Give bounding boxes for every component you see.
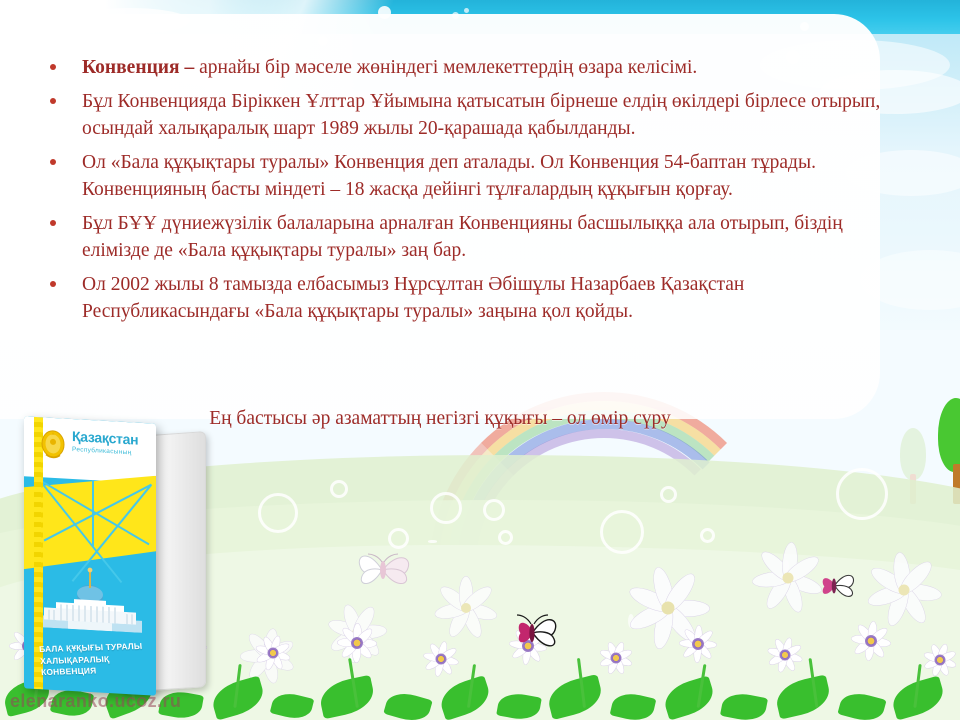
- bullet-body-text: арнайы бір мәселе жөніндегі мемлекеттерд…: [194, 57, 697, 78]
- bullet-lead-text: Конвенция –: [82, 57, 194, 78]
- flower-shape: [420, 638, 462, 680]
- flower-shape: [676, 622, 720, 666]
- flower-shape: [252, 632, 294, 674]
- butterfly-pale: [352, 548, 418, 597]
- ak-orda-palace: [38, 553, 142, 633]
- book-illustration: Қазақстан Республикасының БАЛА ҚҰҚЫҒЫ ТУ…: [14, 416, 214, 702]
- slide-text-content: Конвенция – арнайы бір мәселе жөніндегі …: [0, 0, 960, 440]
- flower-shape: [334, 620, 380, 666]
- cover-ray: [92, 480, 94, 546]
- butterfly-magenta: [505, 612, 563, 659]
- presentation-slide: Қазақстан Республикасының БАЛА ҚҰҚЫҒЫ ТУ…: [0, 0, 960, 720]
- watermark-text: elenaranko.ucoz.ru: [10, 691, 181, 712]
- bullet-body-text: Ол «Бала құқықтары туралы» Конвенция деп…: [82, 152, 816, 200]
- flower-shape: [596, 638, 636, 678]
- flower-shape: [764, 634, 806, 676]
- book-cover: Қазақстан Республикасының БАЛА ҚҰҚЫҒЫ ТУ…: [24, 416, 156, 695]
- bullet-list: Конвенция – арнайы бір мәселе жөніндегі …: [44, 54, 914, 332]
- flower-shape: [848, 618, 894, 664]
- bullet-body-text: Бұл БҰҰ дүниежүзілік балаларына арналған…: [82, 213, 843, 261]
- butterfly-small-pink: [812, 568, 858, 609]
- list-item: Бұл БҰҰ дүниежүзілік балаларына арналған…: [44, 210, 914, 264]
- list-item: Ол 2002 жылы 8 тамызда елбасымыз Нұрсұлт…: [44, 271, 914, 325]
- closing-statement: Ең бастысы әр азаматтың негізгі құқығы –…: [0, 406, 880, 432]
- bullet-body-text: Ол 2002 жылы 8 тамызда елбасымыз Нұрсұлт…: [82, 274, 744, 322]
- flower-shape: [920, 640, 960, 680]
- book-cover-bottom-text: БАЛА ҚҰҚЫҒЫ ТУРАЛЫ ХАЛЫҚАРАЛЫҚ КОНВЕНЦИЯ: [39, 640, 154, 678]
- list-item: Конвенция – арнайы бір мәселе жөніндегі …: [44, 54, 914, 81]
- bullet-body-text: Бұл Конвенцияда Біріккен Ұлттар Ұйымына …: [82, 91, 880, 139]
- list-item: Бұл Конвенцияда Біріккен Ұлттар Ұйымына …: [44, 88, 914, 142]
- list-item: Ол «Бала құқықтары туралы» Конвенция деп…: [44, 149, 914, 203]
